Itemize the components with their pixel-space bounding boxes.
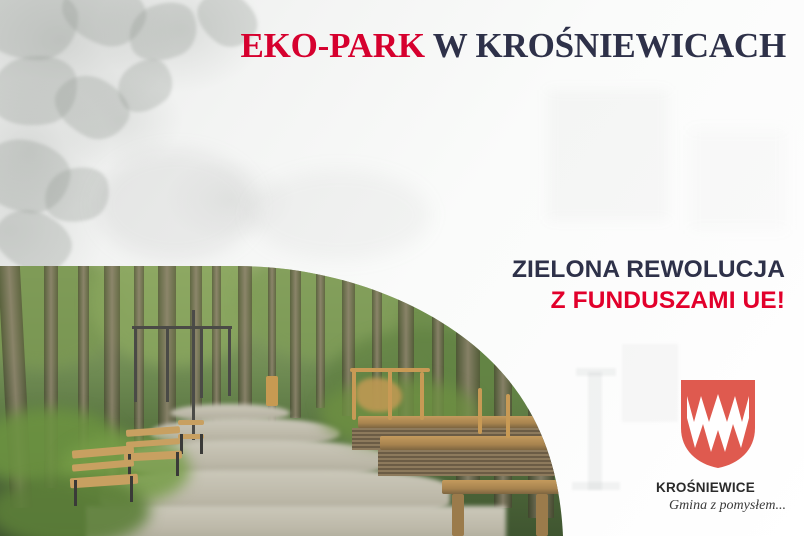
background-window-shape: [690, 130, 786, 230]
tree-trunk: [316, 258, 325, 408]
park-photo-clip: [0, 258, 570, 536]
pergola-beam: [132, 326, 232, 329]
pergola-post: [166, 326, 169, 402]
headline-rest: W KROŚNIEWICACH: [425, 26, 786, 65]
picnic-table-top: [442, 480, 560, 494]
park-photo-image: [0, 258, 570, 536]
poster-canvas: EKO-PARK W KROŚNIEWICACH ZIELONA REWOLUC…: [0, 0, 804, 536]
municipality-tagline: Gmina z pomysłem...: [648, 498, 790, 514]
bench-backrest: [126, 426, 180, 437]
poster-headline: EKO-PARK W KROŚNIEWICACH: [0, 28, 786, 63]
bench-backrest: [72, 445, 134, 458]
bench-backrest: [126, 438, 180, 448]
pergola-post: [228, 328, 231, 396]
bench-leg: [74, 480, 77, 506]
coat-of-arms-icon: [679, 378, 757, 470]
background-column-shape: [576, 368, 616, 376]
park-bench: [70, 448, 138, 506]
bench-backrest: [72, 459, 134, 471]
pergola-post: [134, 326, 137, 402]
background-window-shape: [548, 90, 668, 220]
tree-trunk: [528, 258, 554, 518]
wooden-sculpture: [506, 394, 510, 438]
background-haze: [96, 150, 256, 260]
wooden-sculpture: [350, 368, 430, 372]
litter-bin: [266, 376, 278, 406]
picnic-table-leg: [452, 494, 464, 536]
background-haze: [250, 170, 430, 260]
pergola-post: [200, 326, 203, 398]
background-column-shape: [572, 482, 620, 490]
tree-trunk: [290, 258, 301, 418]
headline-highlight: EKO-PARK: [240, 26, 424, 65]
timber-deck: [380, 436, 570, 450]
background-column-shape: [588, 372, 602, 490]
bench-leg: [200, 434, 203, 454]
municipality-logo: KROŚNIEWICE Gmina z pomysłem...: [648, 378, 790, 524]
wooden-sculpture: [420, 372, 424, 420]
wooden-sculpture: [478, 388, 482, 434]
bench-seat: [70, 474, 139, 489]
picnic-table-leg: [536, 494, 548, 536]
bench-leg: [176, 452, 179, 476]
bench-backrest: [178, 420, 204, 425]
wooden-sculpture-swirl: [356, 378, 402, 412]
timber-deck-stack: [378, 450, 570, 476]
municipality-name: KROŚNIEWICE: [648, 480, 790, 495]
bench-leg: [130, 476, 133, 502]
park-photo-container: [0, 258, 570, 536]
